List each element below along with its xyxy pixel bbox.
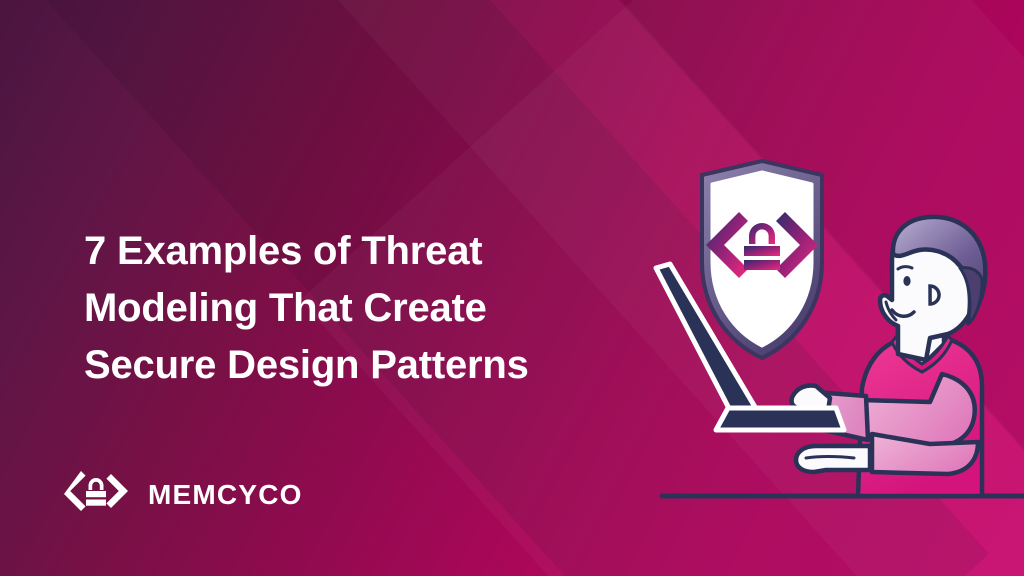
hero-illustration (630, 150, 1024, 550)
memcyco-logo[interactable]: MEMCYCO (62, 466, 303, 524)
promo-banner: 7 Examples of Threat Modeling That Creat… (0, 0, 1024, 576)
eye (903, 276, 910, 286)
laptop-base (716, 408, 844, 430)
chevron-lock-icon (62, 466, 130, 524)
person-at-laptop-illustration (630, 150, 1024, 550)
security-shield (673, 160, 822, 412)
logo-wordmark: MEMCYCO (148, 479, 303, 511)
page-title: 7 Examples of Threat Modeling That Creat… (84, 223, 624, 394)
